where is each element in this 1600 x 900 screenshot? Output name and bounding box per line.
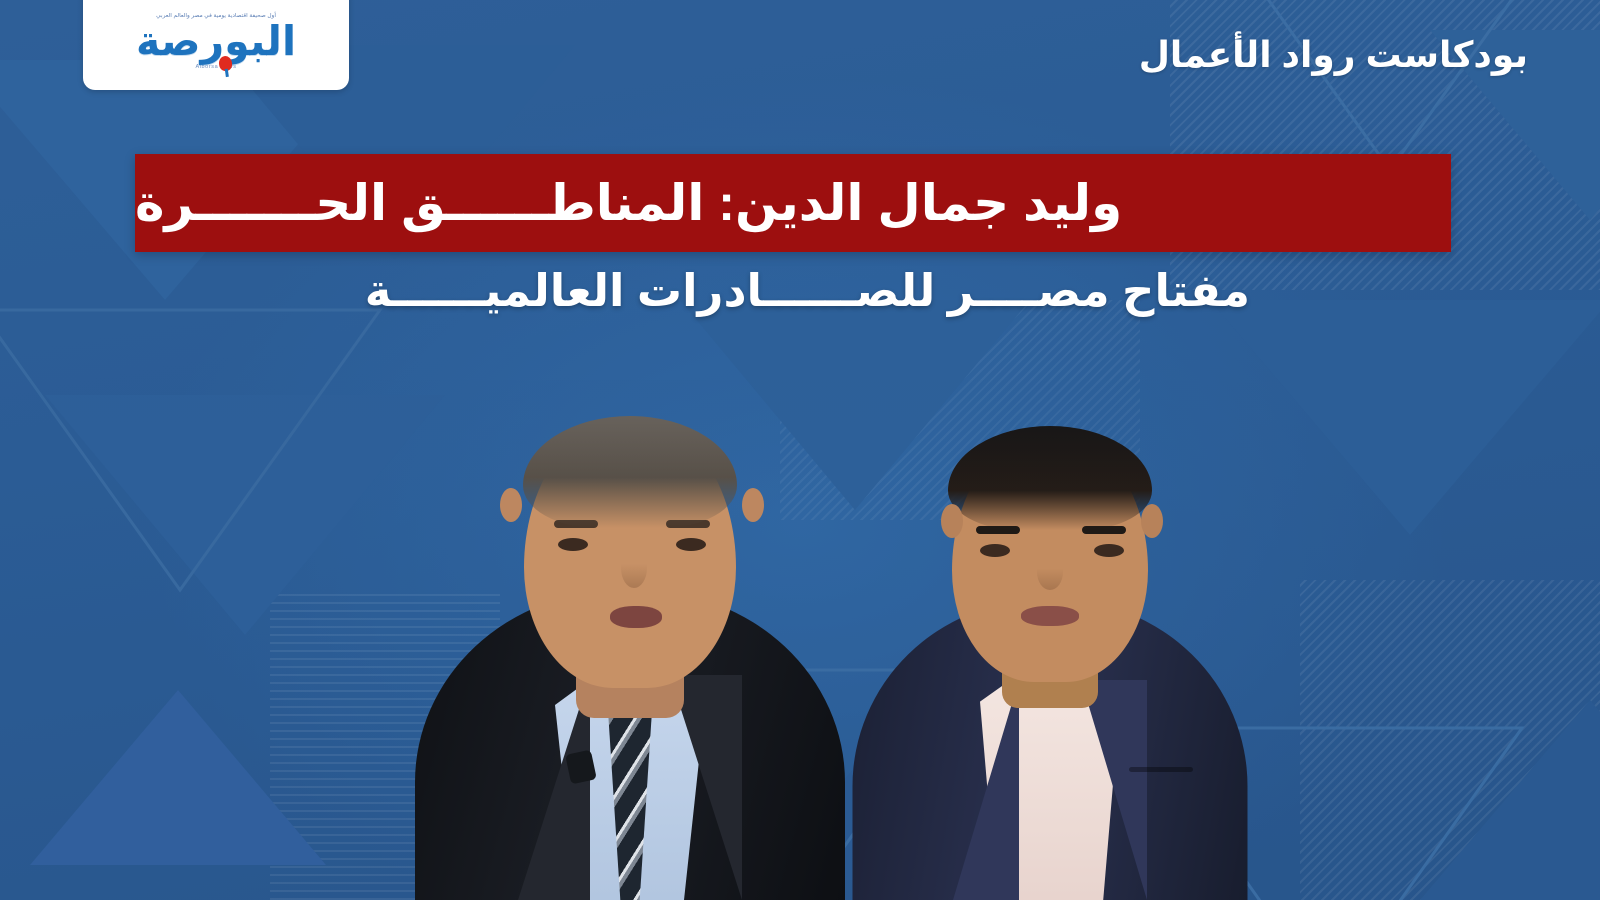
- headline-line-1: وليد جمال الدين: المناطــــــق الحــــــ…: [135, 178, 1122, 228]
- guest-photo-group: [0, 380, 1600, 900]
- guest-right-ear-right: [1141, 504, 1163, 538]
- guest-left: [400, 380, 860, 900]
- alborsa-logo-card[interactable]: أول صحيفة اقتصادية يومية في مصر والعالم …: [83, 0, 349, 90]
- podcast-thumbnail-canvas: أول صحيفة اقتصادية يومية في مصر والعالم …: [0, 0, 1600, 900]
- guest-left-mouth: [610, 606, 662, 628]
- guest-left-eye-right: [676, 538, 706, 551]
- guest-right: [845, 400, 1255, 900]
- guest-right-nose: [1037, 554, 1063, 590]
- guest-right-eye-right: [1094, 544, 1124, 557]
- triangle-outline-topright: [1180, 0, 1600, 180]
- guest-left-nose: [621, 548, 647, 588]
- logo-wordmark-text: البورصة: [136, 18, 296, 64]
- guest-right-eye-left: [980, 544, 1010, 557]
- headline-line-2: مفتاح مصــــر للصــــــادرات العالميــــ…: [365, 268, 1250, 313]
- guest-right-lapel-right: [1081, 680, 1147, 900]
- guest-right-lapel-left: [953, 680, 1019, 900]
- guest-left-ear-left: [500, 488, 522, 522]
- guest-left-hair: [523, 416, 737, 528]
- guest-left-ear-right: [742, 488, 764, 522]
- guest-right-ear-left: [941, 504, 963, 538]
- guest-right-breast-pocket: [1129, 767, 1193, 772]
- logo-wordmark: البورصة: [136, 21, 296, 62]
- podcast-series-label: بودكاست رواد الأعمال: [1139, 34, 1528, 76]
- headline-banner: وليد جمال الدين: المناطــــــق الحــــــ…: [135, 154, 1451, 252]
- guest-right-hair: [948, 426, 1152, 530]
- guest-left-eye-left: [558, 538, 588, 551]
- guest-right-mouth: [1021, 606, 1079, 626]
